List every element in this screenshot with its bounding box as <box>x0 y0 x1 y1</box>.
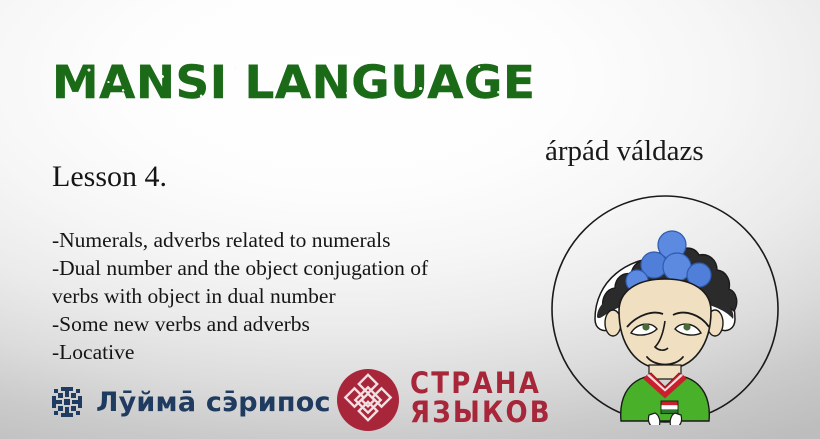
list-item: -Locative <box>52 338 552 366</box>
snowflake-ornament-icon <box>48 383 86 421</box>
shirt <box>621 377 710 421</box>
list-item: -Dual number and the object conjugation … <box>52 254 552 282</box>
logo-strana-line1: СТРАНА <box>410 369 552 398</box>
logo-luima-seripos[interactable]: Лӯйма̄ сэ̄рипос <box>48 383 331 421</box>
lesson-topics-list: -Numerals, adverbs related to numerals -… <box>52 226 552 366</box>
list-item: -Numerals, adverbs related to numerals <box>52 226 552 254</box>
lesson-label: Lesson 4. <box>52 160 167 194</box>
slide-canvas: MANSI LANGUAGE árpád váldazs Lesson 4. -… <box>0 0 820 439</box>
avatar-illustration-icon <box>549 193 781 425</box>
list-item: verbs with object in dual number <box>52 282 552 310</box>
logo-strana-line2: ЯЗЫКОВ <box>410 398 552 427</box>
logo-strana-label: СТРАНА ЯЗЫКОВ <box>410 371 552 429</box>
logo-luima-label: Лӯйма̄ сэ̄рипос <box>96 387 331 418</box>
list-item: -Some new verbs and adverbs <box>52 310 552 338</box>
flag-badge-icon <box>661 401 678 414</box>
page-title: MANSI LANGUAGE <box>52 58 535 108</box>
author-name: árpád váldazs <box>545 135 704 168</box>
pupil-left <box>642 323 649 330</box>
pupil-right <box>683 323 690 330</box>
avatar <box>549 193 781 425</box>
diamond-circle-emblem-icon <box>337 369 399 431</box>
logo-strana-yazykov[interactable]: СТРАНА ЯЗЫКОВ <box>337 369 552 431</box>
